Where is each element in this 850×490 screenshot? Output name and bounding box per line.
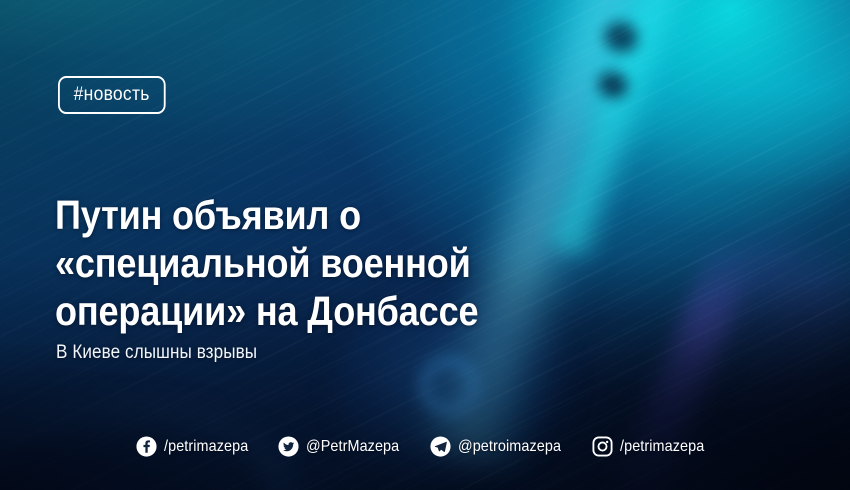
category-badge: #новость	[58, 76, 165, 114]
social-handle-telegram: @petroimazepa	[458, 438, 561, 456]
headline: Путин объявил о «специальной военной опе…	[55, 191, 618, 335]
telegram-icon	[430, 436, 451, 457]
social-handle-twitter: @PetrMazepa	[306, 438, 399, 456]
instagram-icon	[592, 436, 613, 457]
social-handle-facebook: /petrimazepa	[164, 438, 248, 456]
social-links-bar: /petrimazepa @PetrMazepa	[0, 436, 850, 457]
news-card: #новость Путин объявил о «специальной во…	[0, 0, 850, 490]
social-handle-instagram: /petrimazepa	[620, 438, 704, 456]
social-link-facebook[interactable]: /petrimazepa	[136, 436, 258, 457]
social-link-instagram[interactable]: /petrimazepa	[592, 436, 714, 457]
social-link-telegram[interactable]: @petroimazepa	[430, 436, 573, 457]
facebook-icon	[136, 436, 157, 457]
card-content: #новость Путин объявил о «специальной во…	[0, 0, 850, 490]
subtitle: В Киеве слышны взрывы	[56, 342, 257, 364]
twitter-icon	[278, 436, 299, 457]
social-link-twitter[interactable]: @PetrMazepa	[278, 436, 410, 457]
